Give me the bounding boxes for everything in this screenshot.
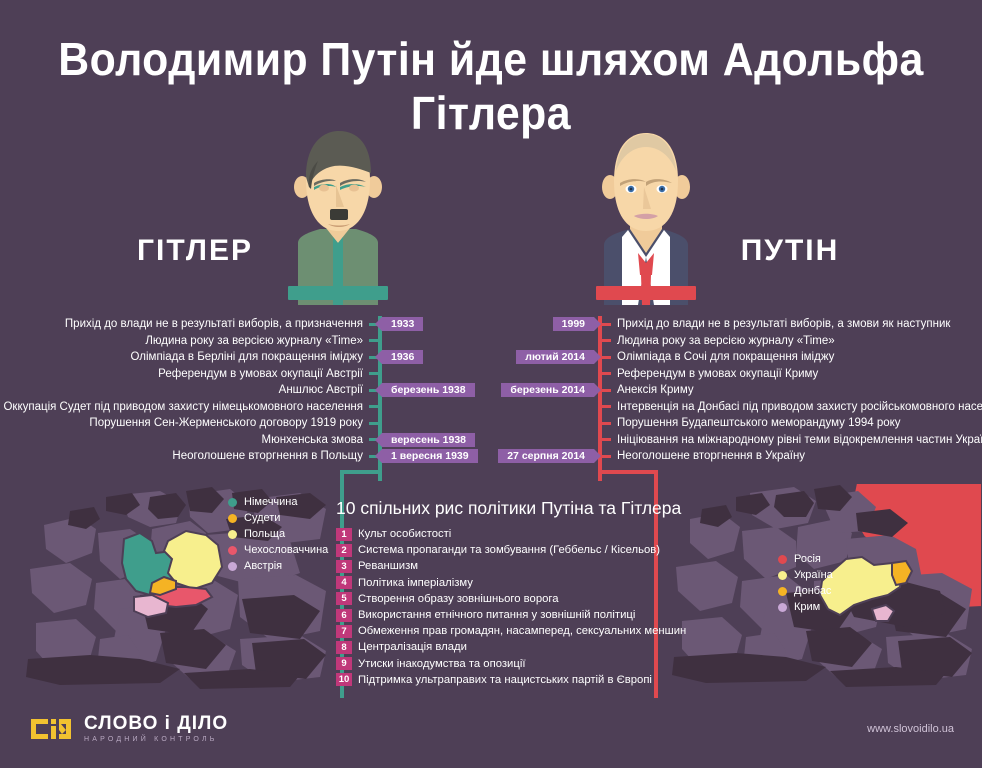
timeline-date-row: 1999 [468, 316, 594, 333]
timeline-event: Мюнхенська змова [0, 432, 378, 449]
timeline-event-label: Олімпіада в Берліні для покращення імідж… [130, 351, 363, 363]
timeline-event-label: Референдум в умовах окупації Криму [617, 368, 818, 380]
timeline-tick [602, 323, 611, 326]
trait-number: 3 [336, 560, 352, 573]
legend-color-dot [778, 603, 787, 612]
timeline-event: Прихід до влади не в результаті виборів,… [0, 316, 378, 333]
trait-item: 3Реваншизм [336, 558, 646, 574]
timeline-event-label: Ініціювання на міжнародному рівні теми в… [617, 434, 982, 446]
timeline-event-label: Оккупація Судет під приводом захисту нім… [3, 401, 363, 413]
timeline-date-row: березень 2014 [468, 382, 594, 399]
trait-item: 1Культ особистості [336, 526, 646, 542]
common-traits-panel: 10 спільних рис політики Путіна та Гітле… [336, 498, 646, 688]
infographic-root: Володимир Путін йде шляхом Адольфа Гітле… [0, 0, 982, 768]
putin-portrait-illustration [586, 125, 706, 305]
trait-label: Обмеження прав громадян, насамперед, сек… [358, 625, 686, 637]
timeline-event-label: Порушення Сен-Жерменського договору 1919… [89, 417, 363, 429]
timeline-event: Прихід до влади не в результаті виборів,… [602, 316, 982, 333]
legend-item: Польща [228, 526, 328, 542]
trait-label: Утиски інакодумства та опозиції [358, 658, 525, 670]
date-badge: вересень 1938 [382, 433, 475, 447]
trait-number: 10 [336, 673, 352, 686]
trait-number: 7 [336, 625, 352, 638]
trait-number: 9 [336, 657, 352, 670]
map-legend-europe-1938: НімеччинаСудетиПольщаЧехословаччинаАвстр… [228, 494, 328, 574]
trait-item: 10Підтримка ультраправих та нацистських … [336, 672, 646, 688]
timeline-event: Порушення Будапештського меморандуму 199… [602, 415, 982, 432]
timeline-tick [602, 422, 611, 425]
timeline-event-label: Прихід до влади не в результаті виборів,… [65, 318, 363, 330]
trait-item: 9Утиски інакодумства та опозиції [336, 656, 646, 672]
trait-item: 5Створення образу зовнішнього ворога [336, 591, 646, 607]
timeline-event: Людина року за версією журналу «Time» [602, 333, 982, 350]
trait-item: 8Централізація влади [336, 639, 646, 655]
common-traits-list: 1Культ особистості2Система пропаганди та… [336, 526, 646, 688]
legend-label: Росія [794, 553, 821, 565]
common-traits-title: 10 спільних рис політики Путіна та Гітле… [336, 498, 646, 519]
timeline-event-label: Референдум в умовах окупації Австрії [158, 368, 363, 380]
trait-label: Культ особистості [358, 528, 451, 540]
timeline-date-row [468, 415, 594, 432]
timeline-date-row: 27 серпня 2014 [468, 448, 594, 465]
hitler-accent-bar [288, 286, 388, 300]
trait-number: 6 [336, 609, 352, 622]
timeline-event-label: Порушення Будапештського меморандуму 199… [617, 417, 901, 429]
legend-item: Австрія [228, 558, 328, 574]
date-badge: 1999 [553, 317, 594, 331]
timeline-tick [602, 356, 611, 359]
timeline-tick [369, 339, 378, 342]
putin-name: ПУТІН [705, 234, 875, 268]
timeline-tick [369, 372, 378, 375]
timeline-event-label: Інтервенція на Донбасі під приводом захи… [617, 401, 982, 413]
legend-item: Росія [778, 551, 833, 567]
legend-color-dot [228, 514, 237, 523]
legend-label: Донбас [794, 585, 831, 597]
legend-item: Донбас [778, 583, 833, 599]
timeline-date-row [468, 366, 594, 383]
legend-item: Судети [228, 510, 328, 526]
legend-color-dot [228, 530, 237, 539]
timeline-event: Людина року за версією журналу «Time» [0, 333, 378, 350]
legend-color-dot [228, 498, 237, 507]
timeline-event: Олімпіада в Берліні для покращення імідж… [0, 349, 378, 366]
hitler-name: ГІТЛЕР [110, 234, 280, 268]
trait-number: 1 [336, 528, 352, 541]
putin-timeline: Прихід до влади не в результаті виборів,… [602, 316, 982, 465]
slovo-i-dilo-logo-icon [28, 716, 74, 742]
timeline-event-label: Анексія Криму [617, 384, 694, 396]
timeline-event: Референдум в умовах окупації Австрії [0, 366, 378, 383]
timeline-event: Олімпіада в Сочі для покращення іміджу [602, 349, 982, 366]
trait-number: 8 [336, 641, 352, 654]
timeline-event-label: Неоголошене вторгнення в Польщу [172, 450, 363, 462]
putin-accent-bar [596, 286, 696, 300]
date-badge: 1 вересня 1939 [382, 449, 478, 463]
date-badge: березень 2014 [501, 383, 594, 397]
legend-item: Чехословаччина [228, 542, 328, 558]
timeline-event-label: Людина року за версією журналу «Time» [145, 335, 363, 347]
date-badge: 27 серпня 2014 [498, 449, 594, 463]
timeline-event: Анексія Криму [602, 382, 982, 399]
website-url[interactable]: www.slovoidilo.ua [867, 723, 954, 735]
trait-label: Використання етнічного питання у зовнішн… [358, 609, 635, 621]
timeline-event-label: Аншлюс Австрії [279, 384, 363, 396]
legend-item: Україна [778, 567, 833, 583]
timeline-date-row: лютий 2014 [468, 349, 594, 366]
trait-label: Система пропаганди та зомбування (Геббел… [358, 544, 660, 556]
trait-item: 7Обмеження прав громадян, насамперед, се… [336, 623, 646, 639]
legend-label: Судети [244, 512, 280, 524]
logo-main-text: СЛОВО і ДІЛО [84, 714, 228, 733]
map-legend-europe-2014: РосіяУкраїнаДонбасКрим [778, 551, 833, 615]
timeline-tick [602, 438, 611, 441]
timeline-event: Оккупація Судет під приводом захисту нім… [0, 399, 378, 416]
date-badge: лютий 2014 [516, 350, 594, 364]
legend-label: Україна [794, 569, 833, 581]
trait-item: 4Політика імперіалізму [336, 575, 646, 591]
timeline-event-label: Олімпіада в Сочі для покращення іміджу [617, 351, 834, 363]
legend-label: Крим [794, 601, 820, 613]
date-badge: березень 1938 [382, 383, 475, 397]
timeline-tick [369, 422, 378, 425]
timeline-event: Інтервенція на Донбасі під приводом захи… [602, 399, 982, 416]
trait-item: 6Використання етнічного питання у зовніш… [336, 607, 646, 623]
legend-label: Німеччина [244, 496, 298, 508]
trait-label: Централізація влади [358, 641, 467, 653]
legend-color-dot [228, 562, 237, 571]
timeline-tick [602, 339, 611, 342]
timeline-event: Референдум в умовах окупації Криму [602, 366, 982, 383]
trait-label: Підтримка ультраправих та нацистських па… [358, 674, 652, 686]
timeline-event: Аншлюс Австрії [0, 382, 378, 399]
trait-label: Політика імперіалізму [358, 577, 473, 589]
timeline-event: Неоголошене вторгнення в Україну [602, 448, 982, 465]
timeline-date-row [468, 333, 594, 350]
timeline-event-label: Людина року за версією журналу «Time» [617, 335, 835, 347]
timeline-tick [602, 389, 611, 392]
brand-logo[interactable]: СЛОВО і ДІЛО НАРОДНИЙ КОНТРОЛЬ [28, 714, 228, 743]
trait-number: 4 [336, 576, 352, 589]
timeline-event: Неоголошене вторгнення в Польщу [0, 448, 378, 465]
logo-sub-text: НАРОДНИЙ КОНТРОЛЬ [84, 736, 228, 743]
timeline-event: Порушення Сен-Жерменського договору 1919… [0, 415, 378, 432]
timeline-tick [602, 372, 611, 375]
date-badge: 1933 [382, 317, 423, 331]
trait-label: Створення образу зовнішнього ворога [358, 593, 559, 605]
timeline-event-label: Мюнхенська змова [262, 434, 364, 446]
timeline-date-row [468, 399, 594, 416]
legend-color-dot [228, 546, 237, 555]
hitler-portrait-illustration [278, 125, 398, 305]
timeline-event: Ініціювання на міжнародному рівні теми в… [602, 432, 982, 449]
putin-date-badges: 1999лютий 2014березень 201427 серпня 201… [468, 316, 594, 465]
trait-label: Реваншизм [358, 560, 418, 572]
legend-color-dot [778, 571, 787, 580]
timeline-event-label: Прихід до влади не в результаті виборів,… [617, 318, 950, 330]
timeline-date-row [468, 432, 594, 449]
timeline-tick [602, 405, 611, 408]
legend-label: Польща [244, 528, 285, 540]
page-title: Володимир Путін йде шляхом Адольфа Гітле… [34, 32, 947, 140]
timeline-tick [602, 455, 611, 458]
date-badge: 1936 [382, 350, 423, 364]
legend-item: Німеччина [228, 494, 328, 510]
trait-number: 2 [336, 544, 352, 557]
trait-item: 2Система пропаганди та зомбування (Геббе… [336, 542, 646, 558]
timeline-tick [369, 405, 378, 408]
hitler-timeline: Прихід до влади не в результаті виборів,… [0, 316, 378, 465]
legend-label: Австрія [244, 560, 282, 572]
legend-color-dot [778, 555, 787, 564]
legend-color-dot [778, 587, 787, 596]
trait-number: 5 [336, 592, 352, 605]
legend-item: Крим [778, 599, 833, 615]
timeline-event-label: Неоголошене вторгнення в Україну [617, 450, 805, 462]
